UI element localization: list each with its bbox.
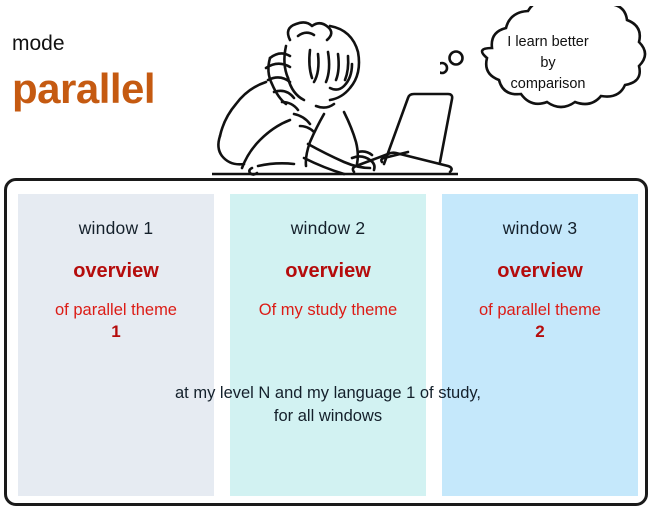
bubble-line-1: I learn better (466, 32, 630, 53)
window-panel-3-title: window 3 (442, 220, 638, 238)
mode-label: mode (12, 33, 65, 54)
window-panel-1-heading: overview (18, 261, 214, 281)
student-at-laptop-line-art (212, 2, 458, 178)
window-panel-1[interactable]: window 1 overview of parallel theme 1 (18, 194, 214, 496)
window-panels: window 1 overview of parallel theme 1 wi… (18, 194, 638, 496)
window-panel-1-subtitle: of parallel theme (18, 300, 214, 321)
window-panel-3-heading: overview (442, 261, 638, 281)
window-panel-2-heading: overview (230, 261, 426, 281)
bubble-line-2: by (466, 53, 630, 74)
bubble-line-3: comparison (466, 74, 630, 95)
window-panel-2[interactable]: window 2 overview Of my study theme (230, 194, 426, 496)
window-panel-1-number: 1 (18, 321, 214, 344)
mode-value: parallel (12, 68, 155, 110)
window-panel-1-title: window 1 (18, 220, 214, 238)
window-panel-3[interactable]: window 3 overview of parallel theme 2 (442, 194, 638, 496)
window-panel-2-title: window 2 (230, 220, 426, 238)
window-panel-3-subtitle: of parallel theme (442, 300, 638, 321)
thought-bubble-text: I learn better by comparison (466, 32, 630, 95)
header-region: mode parallel (0, 0, 656, 178)
window-panel-2-subtitle: Of my study theme (230, 300, 426, 321)
window-panel-3-number: 2 (442, 321, 638, 344)
